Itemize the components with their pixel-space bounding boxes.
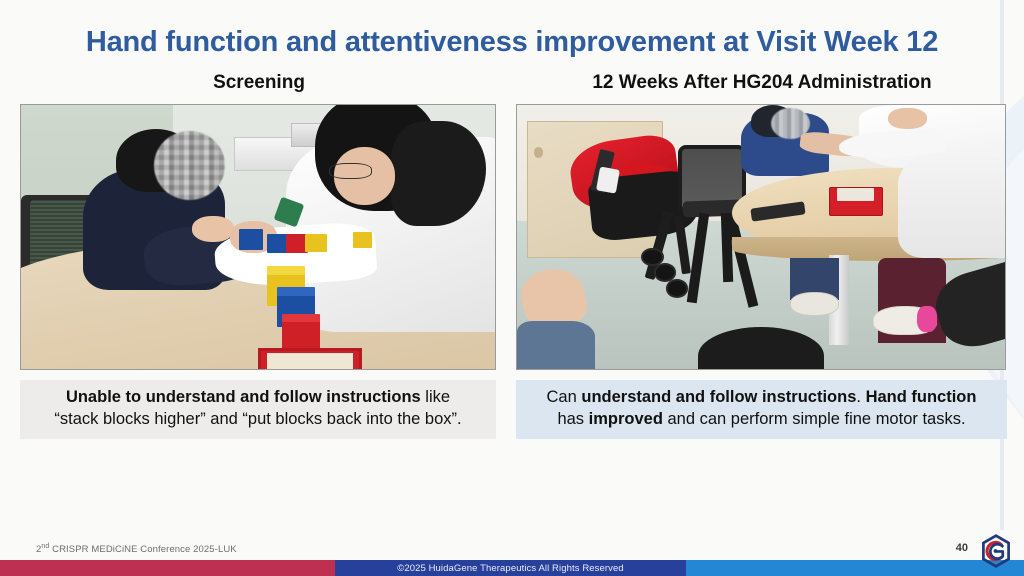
block-yellow — [305, 234, 326, 251]
adult-lap — [898, 153, 1006, 259]
page-title: Hand function and attentiveness improvem… — [0, 26, 1024, 59]
caption-line2: “stack blocks higher” and “put blocks ba… — [54, 410, 461, 428]
caption-mid: . — [856, 388, 865, 406]
column-header-screening: Screening — [20, 72, 498, 94]
block-top-face — [267, 266, 305, 275]
stroller-wheel — [666, 279, 688, 297]
huidagene-hexagon-logo — [978, 533, 1014, 569]
cabinet-knob — [534, 147, 544, 158]
pixelated-face — [154, 131, 225, 200]
caption-bold-lead: Unable to understand and follow instruct… — [66, 388, 421, 406]
copyright-text: ©2025 HuidaGene Therapeutics All Rights … — [335, 560, 686, 576]
caption-line2-lead: has — [557, 410, 588, 428]
caption-rest: like — [421, 388, 450, 406]
child-sneaker — [790, 292, 839, 316]
block-top-face — [277, 287, 315, 296]
photo-week12 — [516, 104, 1006, 370]
caption-bold-1: understand and follow instructions — [581, 388, 856, 406]
red-box-lid — [837, 188, 874, 201]
footer-bar-blue — [686, 560, 1024, 576]
stacked-block-red — [282, 321, 320, 350]
sandal-pink-strap — [917, 306, 937, 332]
tray-interior — [267, 353, 352, 370]
caption-lead: Can — [547, 388, 582, 406]
conference-rest: CRISPR MEDiCiNE Conference 2025-LUK — [49, 544, 236, 555]
photo-screening — [20, 104, 496, 370]
block-blue — [239, 229, 263, 250]
conference-footer: 2nd CRISPR MEDiCiNE Conference 2025-LUK — [36, 543, 237, 555]
caption-bold-3: improved — [589, 410, 663, 428]
footer-bar-red — [0, 560, 335, 576]
page-number: 40 — [956, 542, 968, 554]
stroller-strap — [596, 167, 619, 194]
block-yellow-2 — [353, 232, 372, 248]
caption-screening: Unable to understand and follow instruct… — [20, 380, 496, 439]
column-header-week12: 12 Weeks After HG204 Administration — [516, 72, 1008, 94]
adult-hand — [888, 108, 927, 129]
caption-line2-rest: and can perform simple fine motor tasks. — [663, 410, 966, 428]
clinician-glasses — [329, 163, 372, 179]
foreground-jeans — [517, 321, 595, 370]
block-top-face — [282, 314, 320, 322]
caption-bold-2: Hand function — [866, 388, 977, 406]
caption-week12: Can understand and follow instructions. … — [516, 380, 1007, 439]
screening-scene — [21, 105, 495, 369]
week12-scene — [517, 105, 1005, 369]
